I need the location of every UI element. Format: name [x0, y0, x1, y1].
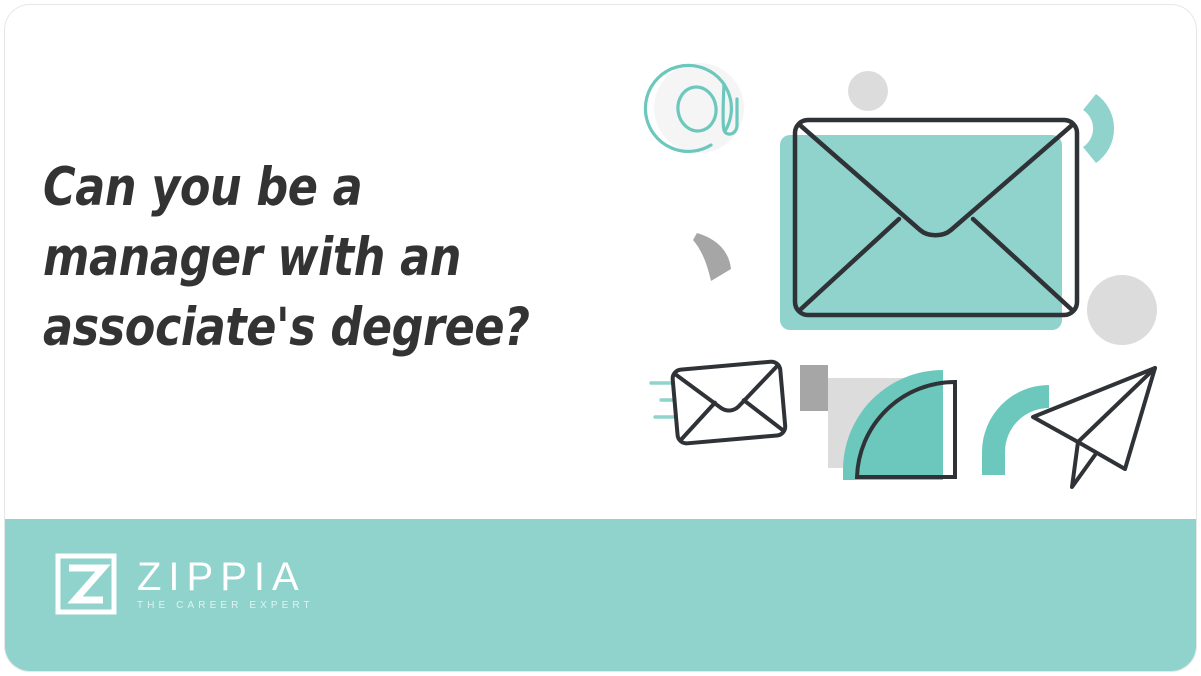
- zippia-z-monogram-icon: [55, 553, 117, 615]
- logo-tagline: THE CAREER EXPERT: [137, 599, 314, 613]
- paper-plane-icon: [1033, 368, 1155, 487]
- footer-bar: ZIPPIA THE CAREER EXPERT: [5, 519, 1196, 671]
- email-illustration: [625, 25, 1185, 505]
- article-hero-card: Can you be a manager with an associate's…: [4, 4, 1197, 672]
- dark-gray-rect: [800, 365, 828, 411]
- teal-elbow-arc: [982, 385, 1049, 475]
- logo-wordmark: ZIPPIA: [137, 556, 314, 598]
- teal-c-arc: [1083, 94, 1114, 163]
- logo-text-block: ZIPPIA THE CAREER EXPERT: [137, 556, 314, 613]
- small-gray-circle: [848, 71, 888, 111]
- small-envelope-icon: [672, 361, 786, 444]
- gray-petal-wedge: [693, 233, 731, 281]
- zippia-logo[interactable]: ZIPPIA THE CAREER EXPERT: [55, 547, 314, 621]
- page-title: Can you be a manager with an associate's…: [43, 153, 547, 363]
- large-gray-circle: [1087, 275, 1157, 345]
